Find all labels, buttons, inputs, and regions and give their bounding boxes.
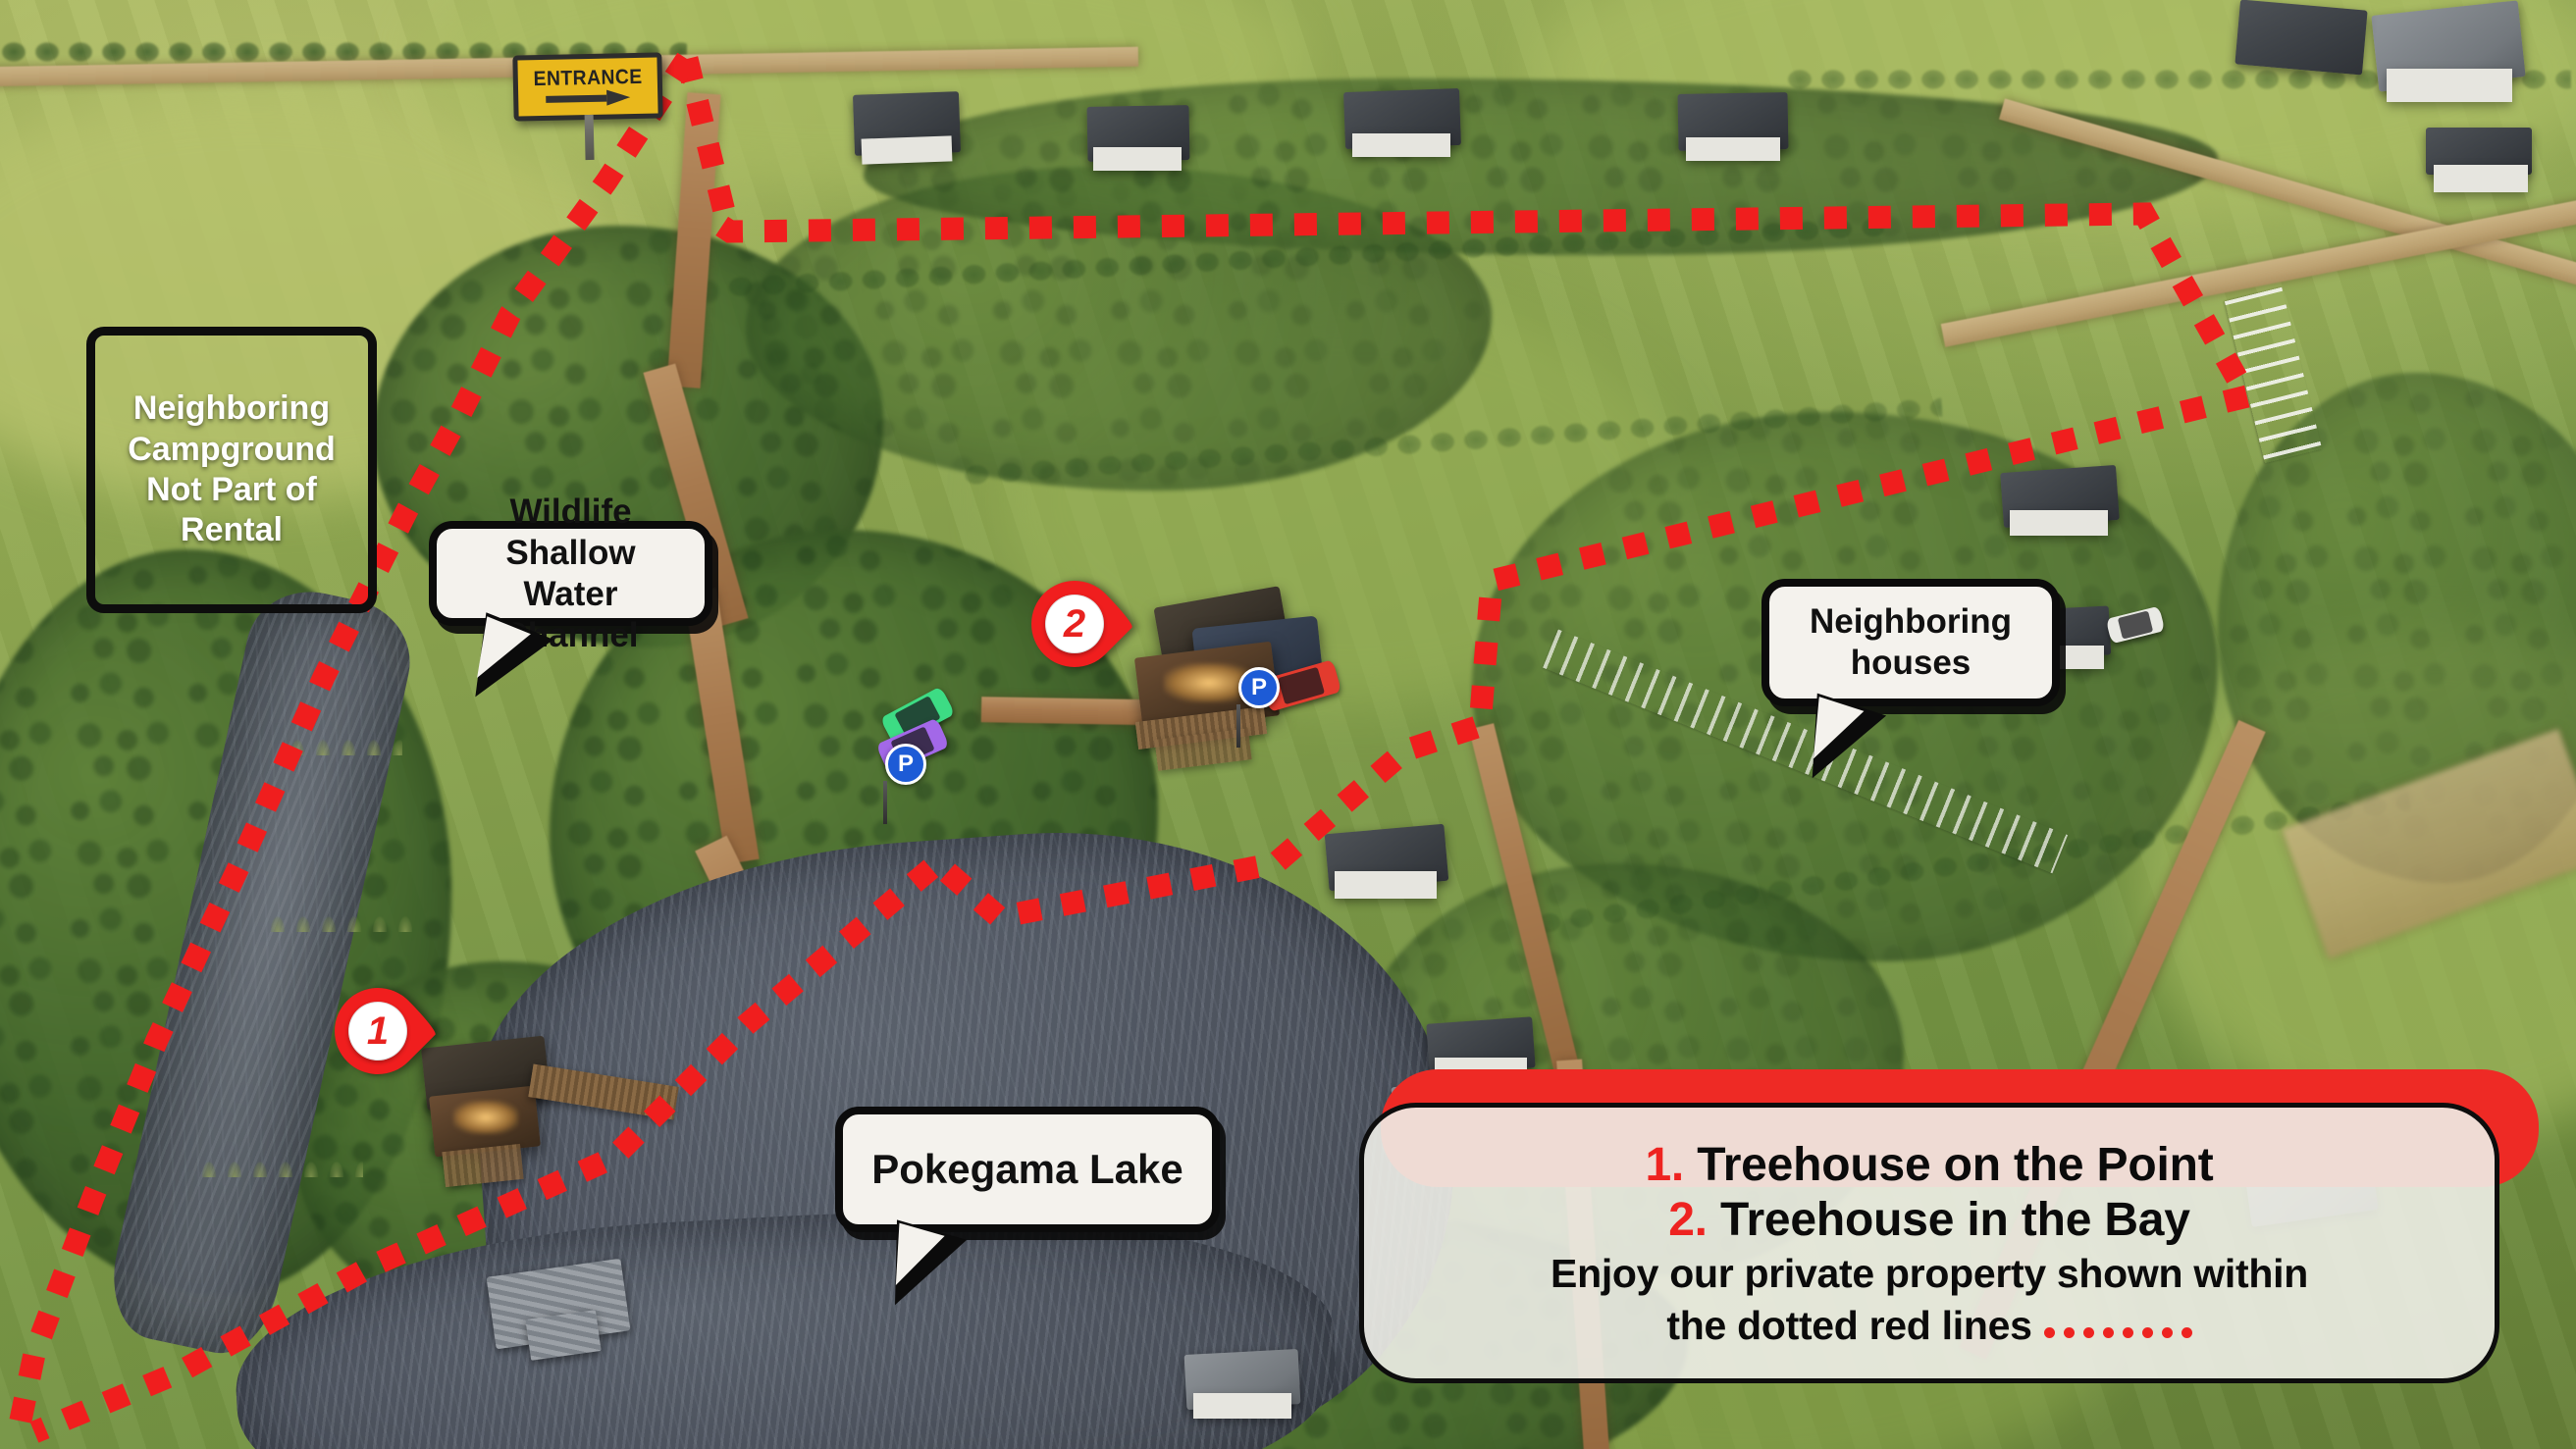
map-pin-1-number: 1	[367, 1011, 389, 1051]
channel-reeds-south	[196, 1089, 363, 1177]
house-wall-north-3	[1352, 133, 1450, 157]
house-roof-northeast-3	[2234, 0, 2367, 76]
house-wall-north-2	[1093, 147, 1182, 171]
house-wall-northeast-2	[2434, 165, 2528, 192]
parking-p-glyph-west: P	[885, 744, 926, 785]
legend-item-1-label: Treehouse on the Point	[1697, 1139, 2213, 1191]
legend-panel: 1. Treehouse on the Point 2. Treehouse i…	[1359, 1069, 2539, 1383]
map-pin-2[interactable]: 2	[1031, 581, 1118, 667]
callout-wildlife-shallow-water-channel: Wildlife Shallow Water Channel	[429, 521, 712, 626]
entrance-sign[interactable]: ENTRANCE	[512, 52, 662, 121]
map-pin-2-disc: 2	[1045, 595, 1104, 653]
callout-neighboring-houses: Neighboring houses	[1761, 579, 2060, 706]
legend-item-2-label: Treehouse in the Bay	[1720, 1194, 2190, 1246]
legend-tagline-line-2-row: the dotted red lines	[1666, 1301, 2191, 1351]
house-wall-south-1	[1335, 871, 1437, 899]
map-pin-2-number: 2	[1064, 604, 1085, 644]
aerial-property-map: P P ENTRANCE Neighboring Campground Not …	[0, 0, 2576, 1449]
legend-content: 1. Treehouse on the Point 2. Treehouse i…	[1359, 1103, 2499, 1383]
legend-tagline-line-2: the dotted red lines	[1666, 1301, 2031, 1351]
house-wall-northeast-1	[2387, 69, 2512, 102]
legend-item-2-number: 2.	[1668, 1194, 1708, 1246]
neighboring-campground-notice: Neighboring Campground Not Part of Renta…	[86, 327, 377, 613]
channel-reeds-north	[285, 687, 402, 755]
callout-label-neighboring-houses: Neighboring houses	[1789, 601, 2032, 684]
map-pin-1-disc: 1	[348, 1002, 407, 1061]
parking-p-glyph-east: P	[1238, 667, 1280, 708]
channel-reeds-mid	[265, 854, 412, 932]
legend-item-1: 1. Treehouse on the Point	[1645, 1139, 2213, 1192]
callout-label-pokegama-lake: Pokegama Lake	[871, 1145, 1183, 1194]
arrow-right-icon	[546, 89, 630, 107]
house-wall-north-4	[1686, 137, 1780, 161]
legend-tagline-line-1: Enjoy our private property shown within	[1551, 1249, 2308, 1299]
house-wall-south-3	[1193, 1393, 1291, 1419]
treehouse-1-window-glow	[453, 1101, 518, 1134]
callout-pokegama-lake: Pokegama Lake	[835, 1107, 1220, 1232]
entrance-sign-post	[585, 115, 595, 160]
parking-sign-pole-east	[1236, 704, 1240, 748]
neighboring-campground-text: Neighboring Campground Not Part of Renta…	[109, 388, 354, 551]
entrance-sign-label: ENTRANCE	[533, 67, 642, 89]
parking-sign-pole-west	[883, 781, 887, 824]
legend-red-dots-sample	[2044, 1314, 2192, 1338]
house-wall-north-1	[862, 135, 953, 164]
house-wall-east-1	[2010, 510, 2108, 536]
legend-item-2: 2. Treehouse in the Bay	[1668, 1194, 2190, 1247]
map-pin-1[interactable]: 1	[335, 988, 421, 1074]
legend-item-1-number: 1.	[1645, 1139, 1684, 1191]
